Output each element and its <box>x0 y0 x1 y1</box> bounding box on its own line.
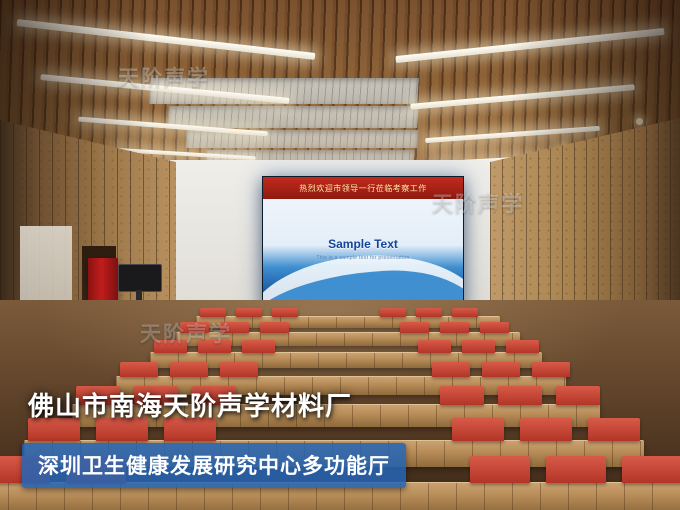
seat-back <box>432 362 470 377</box>
project-caption-badge: 深圳卫生健康发展研究中心多功能厅 <box>22 443 406 488</box>
seat-back <box>498 386 542 405</box>
seat-back <box>480 322 509 333</box>
seat-back <box>220 322 249 333</box>
screen-banner: 热烈欢迎市领导一行莅临考察工作 <box>263 177 463 199</box>
seat-back <box>154 340 187 353</box>
slide-title: Sample Text <box>263 237 463 251</box>
seat-back <box>452 308 478 317</box>
seat-back <box>506 340 539 353</box>
seat-back <box>452 418 504 441</box>
seat-back <box>236 308 262 317</box>
seat-back <box>380 308 406 317</box>
seat-back <box>170 362 208 377</box>
seat-back <box>198 340 231 353</box>
seat-back <box>622 456 680 483</box>
company-caption: 佛山市南海天阶声学材料厂 <box>28 386 352 423</box>
seat-back <box>220 362 258 377</box>
monitor-stand <box>136 290 142 300</box>
seat-back <box>440 386 484 405</box>
seat-back <box>588 418 640 441</box>
seat-back <box>180 322 209 333</box>
lecture-hall-photo: 热烈欢迎市领导一行莅临考察工作 Sample Text This is a sa… <box>0 0 680 510</box>
seat-back <box>200 308 226 317</box>
seat-back <box>272 308 298 317</box>
wall-monitor <box>118 264 162 292</box>
seat-back <box>242 340 275 353</box>
seat-back <box>532 362 570 377</box>
seat-back <box>462 340 495 353</box>
seat-back <box>120 362 158 377</box>
slide-subtitle: This is a sample text for presentation <box>263 255 463 261</box>
screen-slide: Sample Text This is a sample text for pr… <box>263 199 463 309</box>
seat-back <box>416 308 442 317</box>
seat-back <box>440 322 469 333</box>
seat-back <box>260 322 289 333</box>
projection-screen: 热烈欢迎市领导一行莅临考察工作 Sample Text This is a sa… <box>262 176 464 310</box>
seat-back <box>546 456 606 483</box>
seat-back <box>556 386 600 405</box>
seat-back <box>400 322 429 333</box>
seat-back <box>418 340 451 353</box>
seat-back <box>520 418 572 441</box>
seat-back <box>482 362 520 377</box>
screen-banner-text: 热烈欢迎市领导一行莅临考察工作 <box>299 183 427 194</box>
seat-back <box>470 456 530 483</box>
